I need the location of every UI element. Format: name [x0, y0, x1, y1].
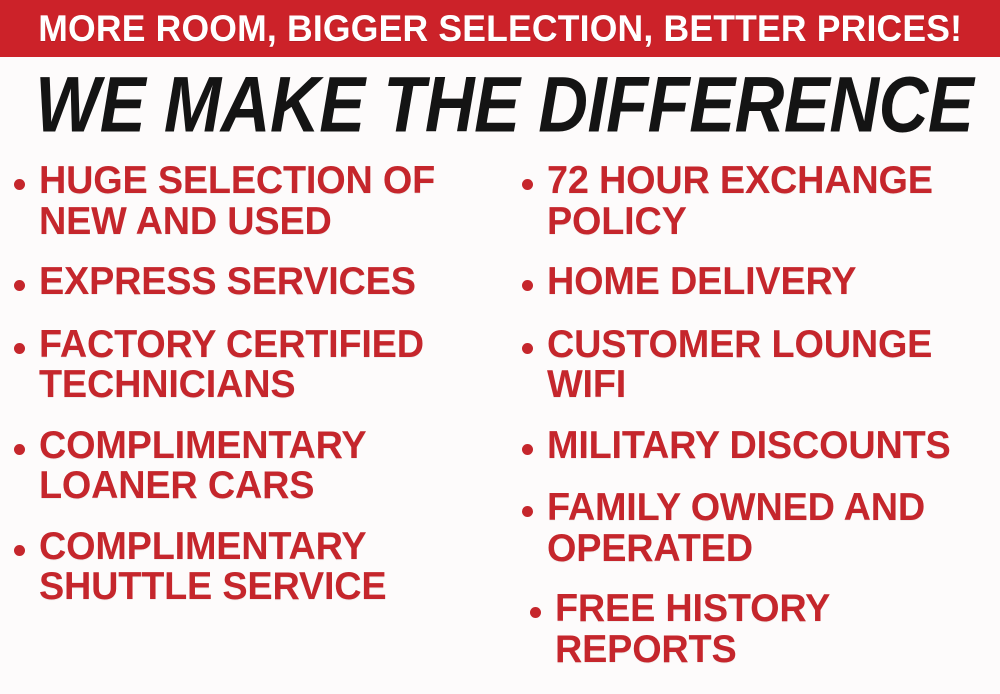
list-item: CUSTOMER LOUNGE WIFI — [522, 325, 1000, 406]
promo-banner: MORE ROOM, BIGGER SELECTION, BETTER PRIC… — [0, 0, 1000, 57]
bullet-dot-icon — [14, 545, 25, 556]
list-item: COMPLIMENTARY LOANER CARS — [14, 426, 505, 507]
feature-label: MILITARY DISCOUNTS — [547, 426, 986, 467]
bullet-dot-icon — [14, 179, 25, 190]
headline: WE MAKE THE DIFFERENCE — [0, 66, 1000, 140]
list-item: FACTORY CERTIFIED TECHNICIANS — [14, 325, 505, 406]
feature-label: FREE HISTORY REPORTS — [555, 589, 987, 670]
bullet-dot-icon — [522, 343, 533, 354]
bullet-dot-icon — [14, 343, 25, 354]
bullet-dot-icon — [530, 607, 541, 618]
bullet-dot-icon — [522, 444, 533, 455]
bullet-dot-icon — [14, 444, 25, 455]
feature-label: EXPRESS SERVICES — [39, 262, 491, 303]
list-item: COMPLIMENTARY SHUTTLE SERVICE — [14, 527, 505, 608]
list-item: EXPRESS SERVICES — [14, 262, 505, 303]
feature-label: COMPLIMENTARY LOANER CARS — [39, 426, 491, 507]
feature-label: HOME DELIVERY — [547, 262, 986, 303]
list-item: 72 HOUR EXCHANGE POLICY — [522, 161, 1000, 242]
bullet-dot-icon — [522, 506, 533, 517]
promo-banner-text: MORE ROOM, BIGGER SELECTION, BETTER PRIC… — [38, 10, 962, 47]
list-item: HOME DELIVERY — [522, 262, 1000, 303]
feature-label: FACTORY CERTIFIED TECHNICIANS — [39, 325, 491, 406]
list-item: FAMILY OWNED AND OPERATED — [522, 488, 1000, 569]
feature-column-left: HUGE SELECTION OF NEW AND USED EXPRESS S… — [0, 157, 505, 628]
feature-label: CUSTOMER LOUNGE WIFI — [547, 325, 986, 406]
list-item: FREE HISTORY REPORTS — [522, 589, 1000, 670]
list-item: MILITARY DISCOUNTS — [522, 426, 1000, 467]
bullet-dot-icon — [522, 280, 533, 291]
list-item: HUGE SELECTION OF NEW AND USED — [14, 161, 505, 242]
feature-label: FAMILY OWNED AND OPERATED — [547, 488, 986, 569]
feature-label: COMPLIMENTARY SHUTTLE SERVICE — [39, 527, 491, 608]
feature-label: HUGE SELECTION OF NEW AND USED — [39, 161, 491, 242]
feature-label: 72 HOUR EXCHANGE POLICY — [547, 161, 986, 242]
bullet-dot-icon — [522, 179, 533, 190]
headline-text: WE MAKE THE DIFFERENCE — [35, 66, 973, 144]
feature-column-right: 72 HOUR EXCHANGE POLICY HOME DELIVERY CU… — [505, 157, 1000, 690]
feature-columns: HUGE SELECTION OF NEW AND USED EXPRESS S… — [0, 157, 1000, 694]
bullet-dot-icon — [14, 280, 25, 291]
